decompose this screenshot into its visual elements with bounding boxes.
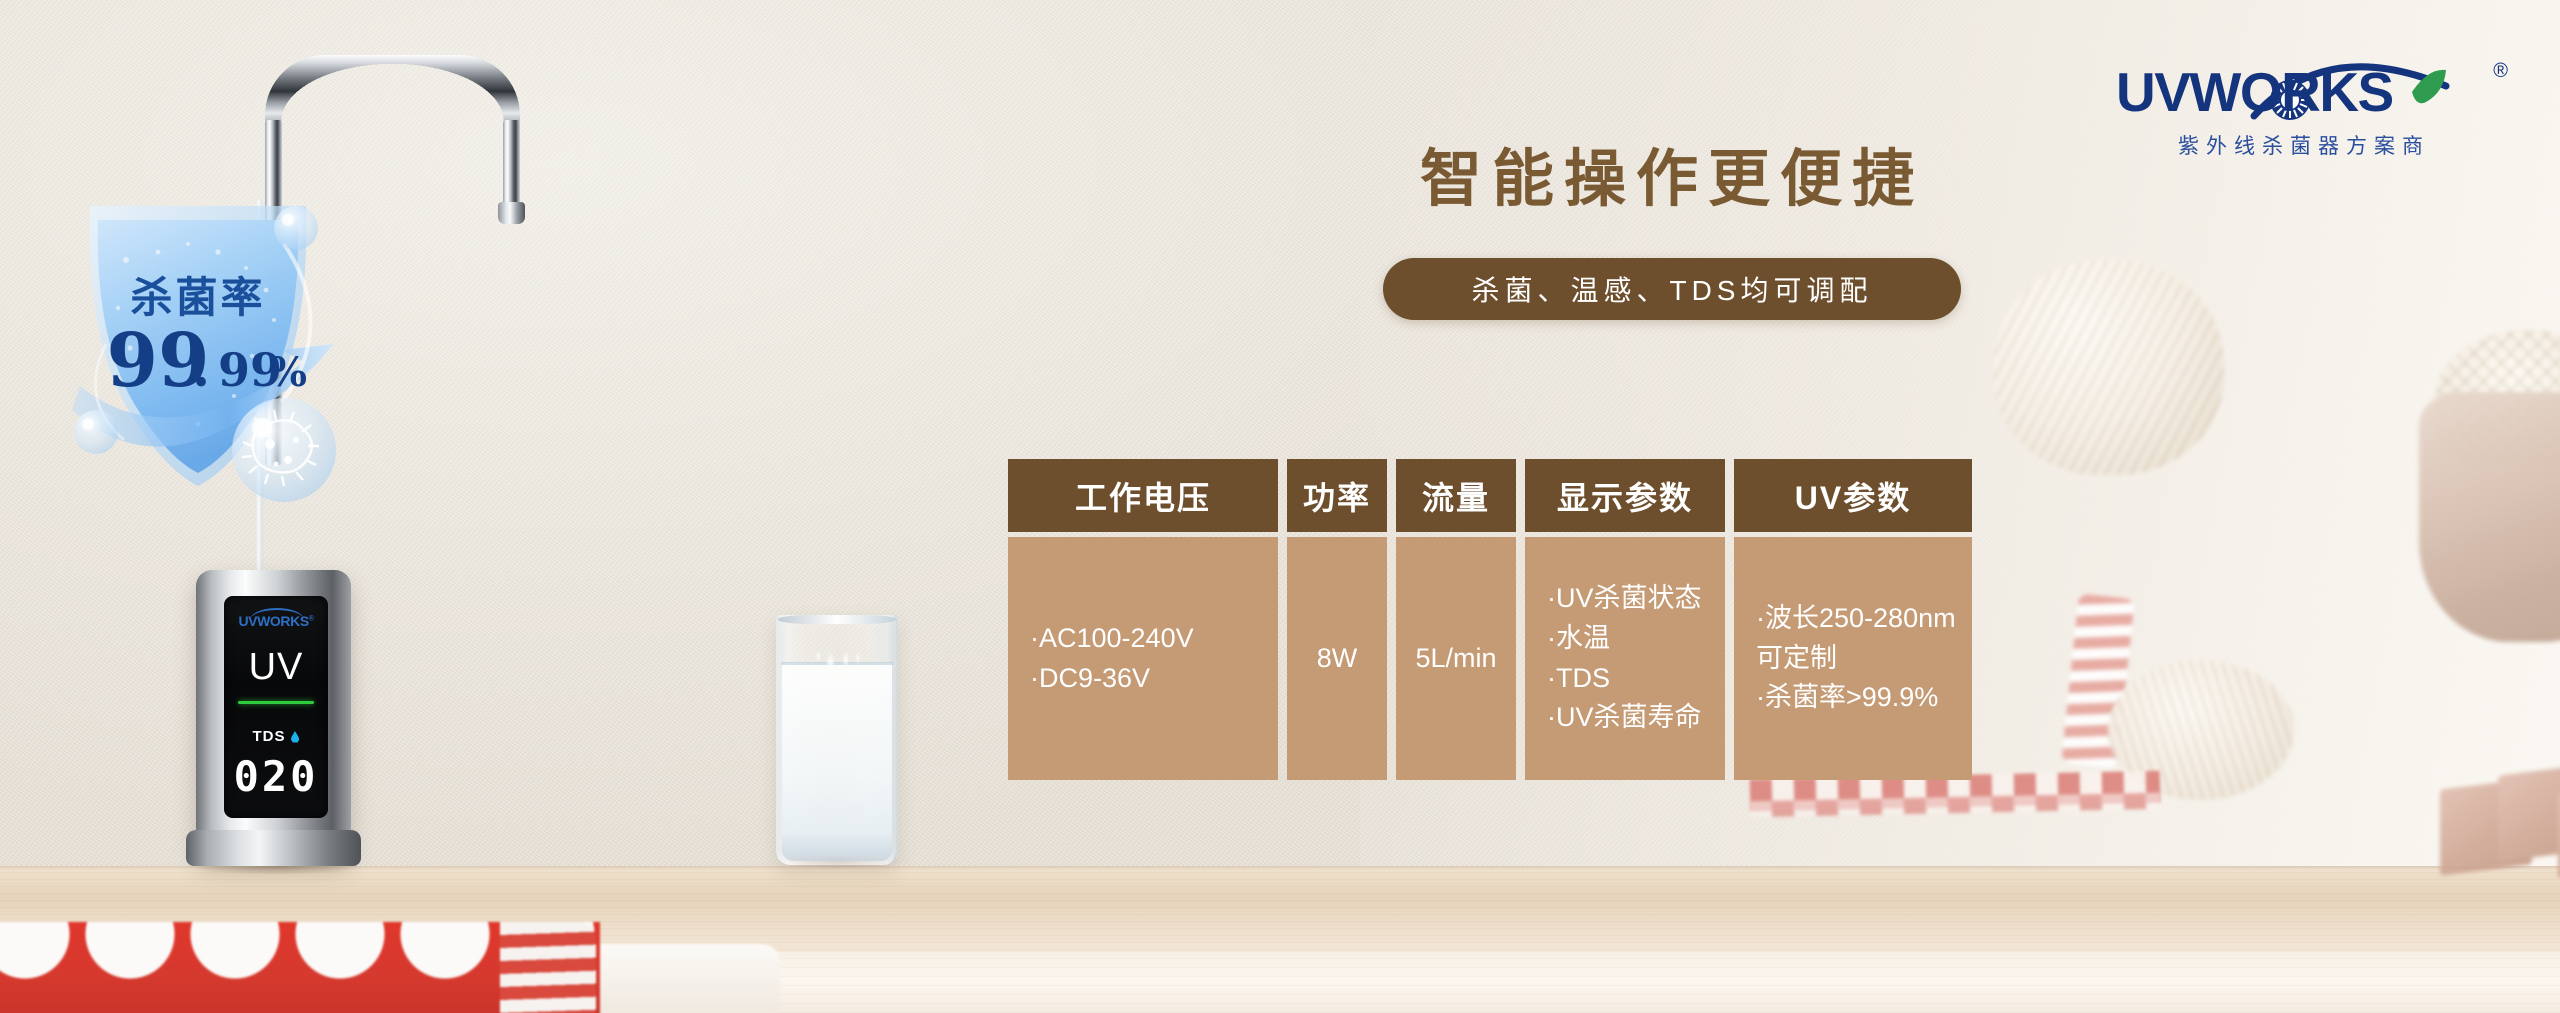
spec-column-header: 功率 [1287, 459, 1387, 532]
spec-column-body: 8W [1287, 537, 1387, 780]
page-title: 智能操作更便捷 [1362, 128, 1982, 218]
faucet-right-pipe [503, 120, 520, 210]
spec-column-header: UV参数 [1734, 459, 1972, 532]
spec-column: 显示参数·UV杀菌状态·水温·TDS·UV杀菌寿命 [1525, 459, 1725, 780]
spec-column-body: ·波长250-280nm 可定制·杀菌率>99.9% [1734, 537, 1972, 780]
screen-tds-label: TDS [253, 728, 286, 745]
spec-line: 可定制 [1756, 639, 1837, 679]
water-splash [796, 637, 882, 683]
checkered-towel [0, 922, 600, 1013]
faucet-spout-tip [498, 202, 525, 224]
towel-striped-band [500, 922, 596, 1013]
spec-column: 功率8W [1287, 459, 1387, 780]
faucet-arc [265, 55, 520, 121]
spec-column: 工作电压·AC100-240V·DC9-36V [1008, 459, 1278, 780]
spec-line: ·波长250-280nm [1756, 599, 1956, 639]
logo-tagline: 紫外线杀菌器方案商 [2122, 130, 2486, 160]
spec-column-header: 流量 [1396, 459, 1516, 532]
glass-water [782, 663, 892, 856]
logo-wordmark: UVWORKS [2116, 60, 2486, 124]
spec-column-body: 5L/min [1396, 537, 1516, 780]
spec-line: ·水温 [1547, 619, 1610, 659]
badge-label: 杀菌率 [130, 273, 265, 322]
screen-status-bar [238, 701, 314, 704]
spec-column: UV参数·波长250-280nm 可定制·杀菌率>99.9% [1734, 459, 1972, 780]
screen-brand-logo: UVWORKS® [224, 613, 328, 629]
sterilization-rate-badge: 杀菌率 99 . 99 % [38, 148, 358, 508]
spec-line: ·AC100-240V [1030, 619, 1194, 659]
glass-rim [778, 615, 896, 624]
spec-line: ·DC9-36V [1030, 659, 1150, 699]
feature-pill-text: 杀菌、温感、TDS均可调配 [1471, 269, 1872, 309]
spec-line: ·TDS [1547, 659, 1610, 699]
spec-column-header: 显示参数 [1525, 459, 1725, 532]
yarn-ball-large [1994, 260, 2224, 475]
ceramic-pot [2419, 392, 2560, 642]
bubble-highlight [82, 418, 94, 430]
screen-tds-value: 020 [224, 752, 328, 801]
spec-column: 流量5L/min [1396, 459, 1516, 780]
screen-mode-label: UV [224, 646, 328, 689]
water-drop-icon [291, 731, 300, 743]
yarn-texture [1994, 260, 2224, 475]
device-base [186, 830, 361, 866]
device-display-screen: UVWORKS® UV TDS 020 [224, 596, 328, 818]
spec-line: ·杀菌率>99.9% [1756, 678, 1938, 718]
spec-column-body: ·UV杀菌状态·水温·TDS·UV杀菌寿命 [1525, 537, 1725, 780]
spec-line: ·UV杀菌状态 [1547, 579, 1702, 619]
uvworks-logo[interactable]: UVWORKS ® 紫外线杀菌器方案商 [2116, 30, 2516, 160]
badge-value-unit: % [269, 349, 307, 396]
bubble-highlight [282, 214, 294, 226]
spec-line: 8W [1317, 639, 1358, 679]
badge-value-dot: . [192, 338, 210, 399]
bubble [274, 206, 318, 250]
glass-bottom [782, 835, 892, 861]
spec-line: 5L/min [1415, 639, 1496, 679]
spec-line: ·UV杀菌寿命 [1547, 698, 1702, 738]
bubble [74, 410, 118, 454]
feature-pill: 杀菌、温感、TDS均可调配 [1383, 258, 1961, 320]
water-glass [776, 615, 898, 865]
ceramic-tiles [2440, 760, 2560, 868]
spec-column-header: 工作电压 [1008, 459, 1278, 532]
swoosh-icon [250, 608, 304, 620]
spec-table: 工作电压·AC100-240V·DC9-36V功率8W流量5L/min显示参数·… [1008, 459, 1972, 780]
screen-tds-row: TDS [224, 728, 328, 745]
tile [2498, 764, 2560, 861]
registered-mark: ® [2493, 60, 2508, 83]
spec-column-body: ·AC100-240V·DC9-36V [1008, 537, 1278, 780]
registered-mark: ® [309, 615, 314, 622]
